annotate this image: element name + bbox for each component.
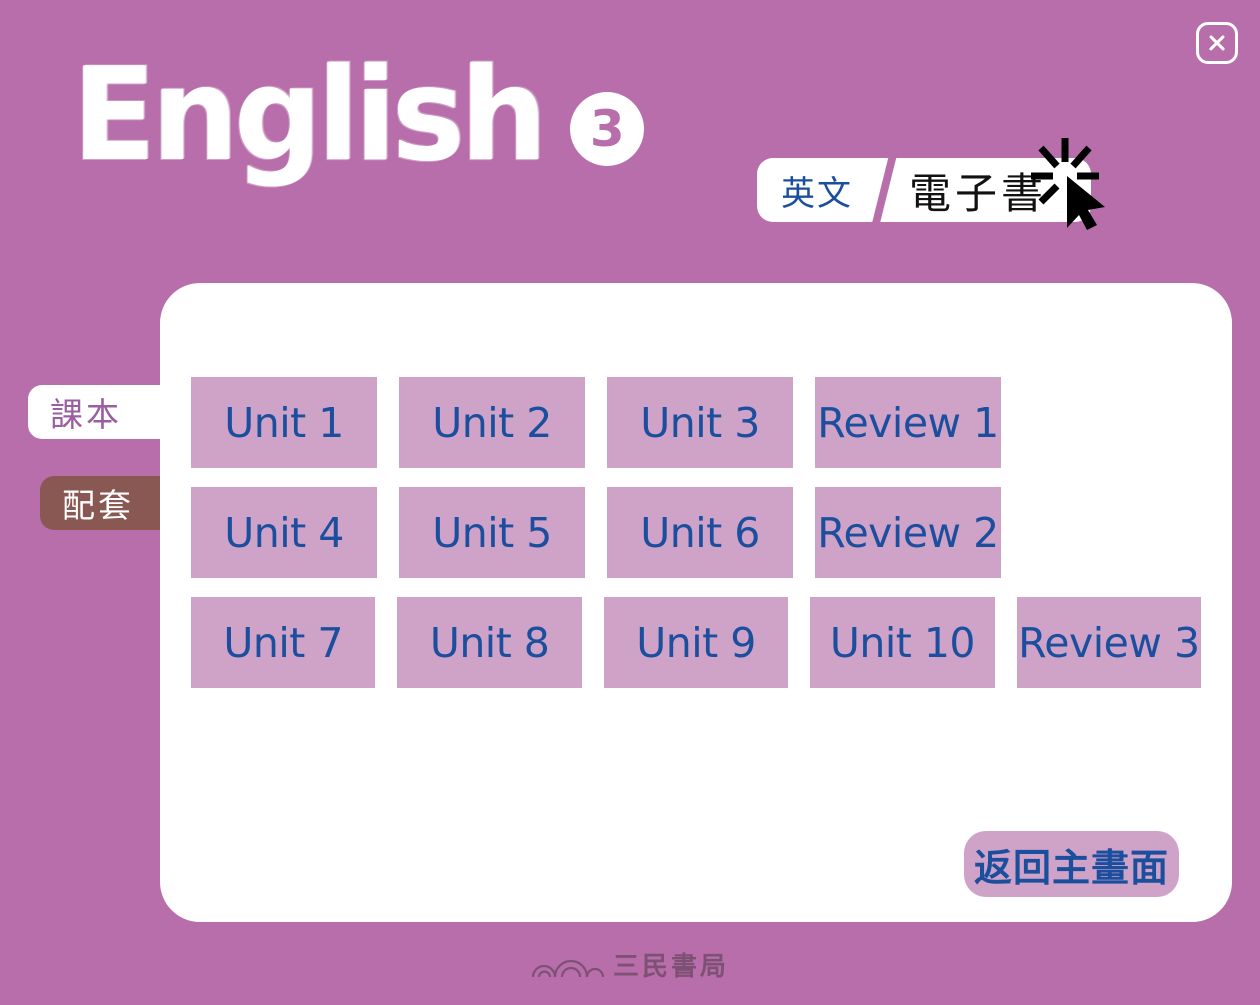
- unit-row: Unit 4 Unit 5 Unit 6 Review 2: [191, 487, 1201, 578]
- unit-button-review1[interactable]: Review 1: [815, 377, 1001, 468]
- unit-button-review2[interactable]: Review 2: [815, 487, 1001, 578]
- unit-row: Unit 1 Unit 2 Unit 3 Review 1: [191, 377, 1201, 468]
- media-label-text: 電子書: [909, 160, 1047, 221]
- publisher-footer: 三民書局: [0, 946, 1260, 983]
- content-card: Unit 1 Unit 2 Unit 3 Review 1 Unit 4 Uni…: [160, 283, 1232, 922]
- unit-button-review3[interactable]: Review 3: [1017, 597, 1201, 688]
- level-badge: 3: [570, 92, 644, 166]
- unit-grid: Unit 1 Unit 2 Unit 3 Review 1 Unit 4 Uni…: [191, 377, 1201, 707]
- brand-word: English: [72, 52, 543, 180]
- publisher-arch-icon: [531, 952, 605, 978]
- unit-button-unit5[interactable]: Unit 5: [399, 487, 585, 578]
- unit-button-unit8[interactable]: Unit 8: [397, 597, 581, 688]
- close-icon: [1207, 33, 1227, 53]
- unit-button-unit2[interactable]: Unit 2: [399, 377, 585, 468]
- return-home-button[interactable]: 返回主畫面: [964, 831, 1179, 897]
- close-button[interactable]: [1196, 22, 1238, 64]
- unit-button-unit1[interactable]: Unit 1: [191, 377, 377, 468]
- subject-pill: 英文 電子書: [757, 158, 1091, 222]
- unit-button-unit4[interactable]: Unit 4: [191, 487, 377, 578]
- subject-label: 英文: [757, 158, 869, 222]
- publisher-name: 三民書局: [613, 946, 729, 983]
- sidebar-item-label: 課本: [50, 388, 122, 436]
- unit-button-unit10[interactable]: Unit 10: [810, 597, 994, 688]
- unit-button-unit3[interactable]: Unit 3: [607, 377, 793, 468]
- unit-button-unit7[interactable]: Unit 7: [191, 597, 375, 688]
- unit-button-unit9[interactable]: Unit 9: [604, 597, 788, 688]
- unit-button-unit6[interactable]: Unit 6: [607, 487, 793, 578]
- brand-wordmark: English 3: [72, 52, 644, 180]
- subject-separator: [869, 158, 903, 222]
- sidebar-item-label: 配套: [62, 479, 134, 527]
- unit-row: Unit 7 Unit 8 Unit 9 Unit 10 Review 3: [191, 597, 1201, 688]
- media-label: 電子書: [903, 158, 1091, 222]
